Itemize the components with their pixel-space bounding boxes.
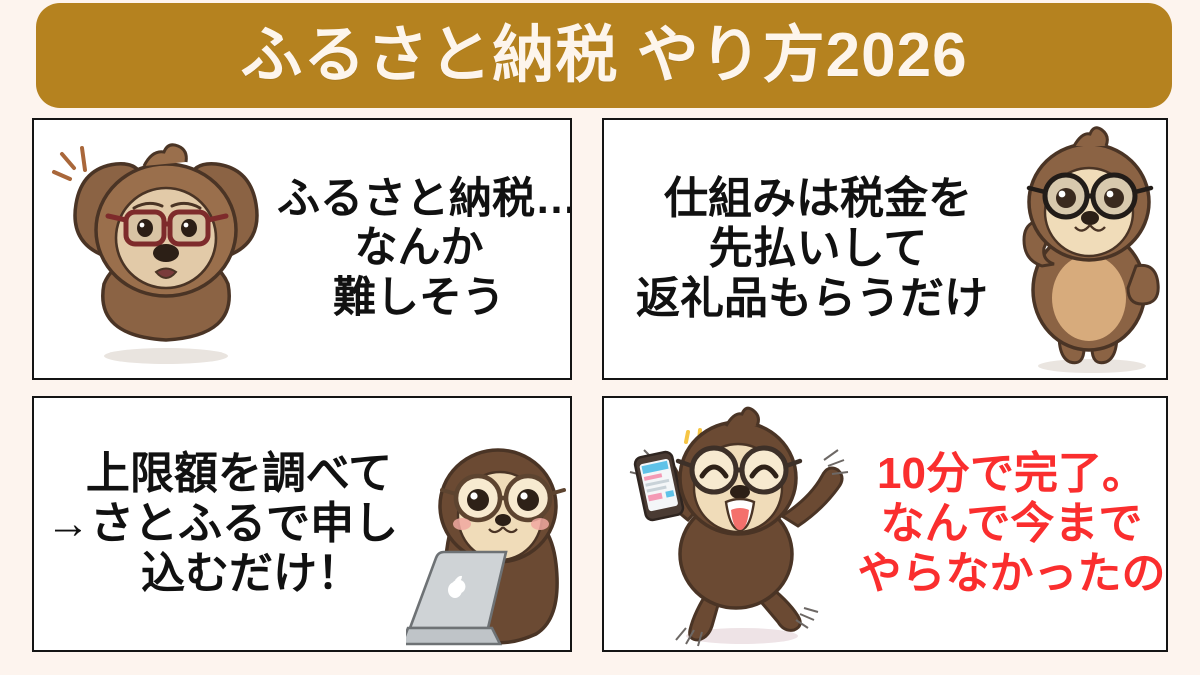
caption-line: 仕組みは税金を	[664, 174, 972, 224]
caption-line: →さとふるで申し	[46, 499, 398, 549]
caption-line: 先払いして	[709, 224, 928, 274]
panel-1: ふるさと納税… なんか 難しそう	[32, 118, 572, 380]
caption-line: やらなかったの	[858, 549, 1166, 599]
caption-line: 10分で完了。	[877, 449, 1146, 499]
panel-4: 10分で完了。 なんで今まで やらなかったの	[602, 396, 1168, 652]
page-title: ふるさと納税 やり方2026	[240, 25, 967, 87]
title-banner: ふるさと納税 やり方2026	[36, 3, 1172, 108]
caption-line: 返礼品もらうだけ	[636, 274, 988, 324]
panel-1-caption: ふるさと納税… なんか 難しそう	[266, 120, 572, 378]
panel-4-caption: 10分で完了。 なんで今まで やらなかったの	[859, 398, 1164, 650]
panel-3: 上限額を調べて →さとふるで申し 込むだけ！	[32, 396, 572, 652]
panel-2: 仕組みは税金を 先払いして 返礼品もらうだけ	[602, 118, 1168, 380]
caption-line: 難しそう	[333, 274, 505, 323]
celebrating-sloth-illustration	[614, 404, 854, 648]
sloth-with-laptop-illustration	[406, 432, 572, 650]
caption-line: なんで今まで	[881, 499, 1143, 549]
panel-2-caption: 仕組みは税金を 先払いして 返礼品もらうだけ	[618, 120, 1018, 378]
caption-line: 上限額を調べて	[86, 449, 392, 499]
caption-line: ふるさと納税…	[277, 175, 572, 224]
infographic-root: ふるさと納税 やり方2026	[0, 0, 1200, 675]
panel-3-caption: 上限額を調べて →さとふるで申し 込むだけ！	[44, 398, 434, 650]
caption-line: なんか	[355, 224, 484, 273]
pointing-sloth-illustration	[1004, 126, 1168, 376]
caption-line: 込むだけ！	[141, 549, 361, 599]
worried-sloth-illustration	[48, 134, 278, 368]
